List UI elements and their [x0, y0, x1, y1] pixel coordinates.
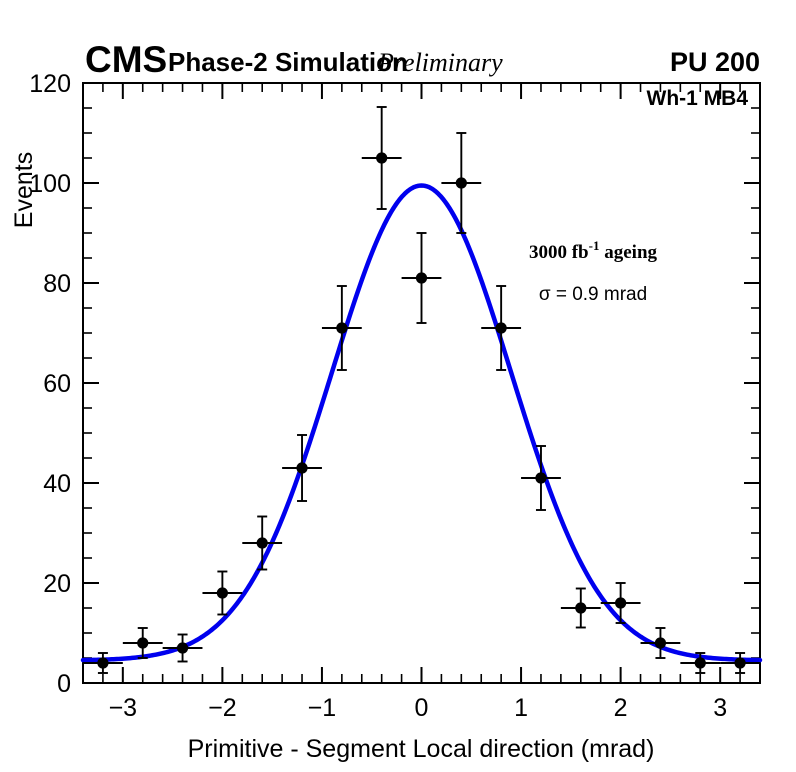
data-marker	[496, 322, 507, 333]
y-axis-title: Events	[10, 152, 38, 228]
header-block: CMS Phase-2 Simulation Preliminary PU 20…	[85, 39, 760, 80]
data-point	[202, 572, 242, 615]
data-marker	[695, 657, 706, 668]
y-tick-label: 20	[43, 570, 71, 598]
data-marker	[177, 642, 188, 653]
data-marker	[336, 322, 347, 333]
data-point	[561, 589, 601, 628]
x-tick-label: 1	[514, 694, 528, 722]
chamber-label: Wh-1 MB4	[647, 87, 749, 110]
data-marker	[734, 657, 745, 668]
y-axis: 020406080100120	[29, 70, 760, 698]
ageing-value: 3000 fb	[529, 242, 589, 263]
y-tick-label: 120	[29, 70, 71, 98]
x-tick-label: 0	[415, 694, 429, 722]
x-tick-label: −3	[109, 694, 138, 722]
x-tick-label: −1	[308, 694, 337, 722]
plot-canvas: CMS Phase-2 Simulation Preliminary PU 20…	[0, 0, 796, 772]
ageing-exponent: -1	[589, 238, 600, 253]
data-marker	[416, 272, 427, 283]
data-point	[402, 233, 442, 323]
y-tick-label: 60	[43, 370, 71, 398]
cms-resolution-plot: CMS Phase-2 Simulation Preliminary PU 20…	[0, 0, 796, 772]
ageing-tail: ageing	[599, 242, 657, 263]
data-marker	[456, 177, 467, 188]
x-axis: −3−2−10123	[83, 83, 760, 722]
x-tick-label: −2	[208, 694, 237, 722]
data-marker	[615, 597, 626, 608]
y-tick-label: 80	[43, 270, 71, 298]
x-tick-label: 3	[713, 694, 727, 722]
data-point	[362, 107, 402, 209]
data-marker	[257, 537, 268, 548]
data-marker	[296, 462, 307, 473]
annotation-ageing: 3000 fb-1 ageing	[529, 238, 658, 263]
x-tick-label: 2	[614, 694, 628, 722]
data-marker	[575, 602, 586, 613]
x-axis-title: Primitive - Segment Local direction (mra…	[188, 735, 655, 763]
data-point	[720, 653, 760, 673]
data-point	[83, 653, 123, 673]
y-tick-label: 0	[57, 670, 71, 698]
data-marker	[97, 657, 108, 668]
data-points-group	[83, 107, 760, 673]
data-point	[282, 435, 322, 501]
data-point	[441, 133, 481, 233]
data-marker	[655, 637, 666, 648]
annotation-sigma: σ = 0.9 mrad	[539, 284, 647, 305]
pileup-label: PU 200	[670, 47, 760, 77]
data-marker	[535, 472, 546, 483]
svg-text:3000 fb-1 ageing: 3000 fb-1 ageing	[529, 238, 658, 263]
cms-status-preliminary: Preliminary	[377, 48, 503, 77]
data-point	[242, 517, 282, 570]
y-tick-label: 40	[43, 470, 71, 498]
data-marker	[137, 637, 148, 648]
data-marker	[376, 152, 387, 163]
data-marker	[217, 587, 228, 598]
plot-frame	[83, 83, 760, 683]
data-point	[601, 583, 641, 623]
cms-logo-text: CMS	[85, 39, 167, 80]
cms-subtitle: Phase-2 Simulation	[168, 47, 408, 77]
